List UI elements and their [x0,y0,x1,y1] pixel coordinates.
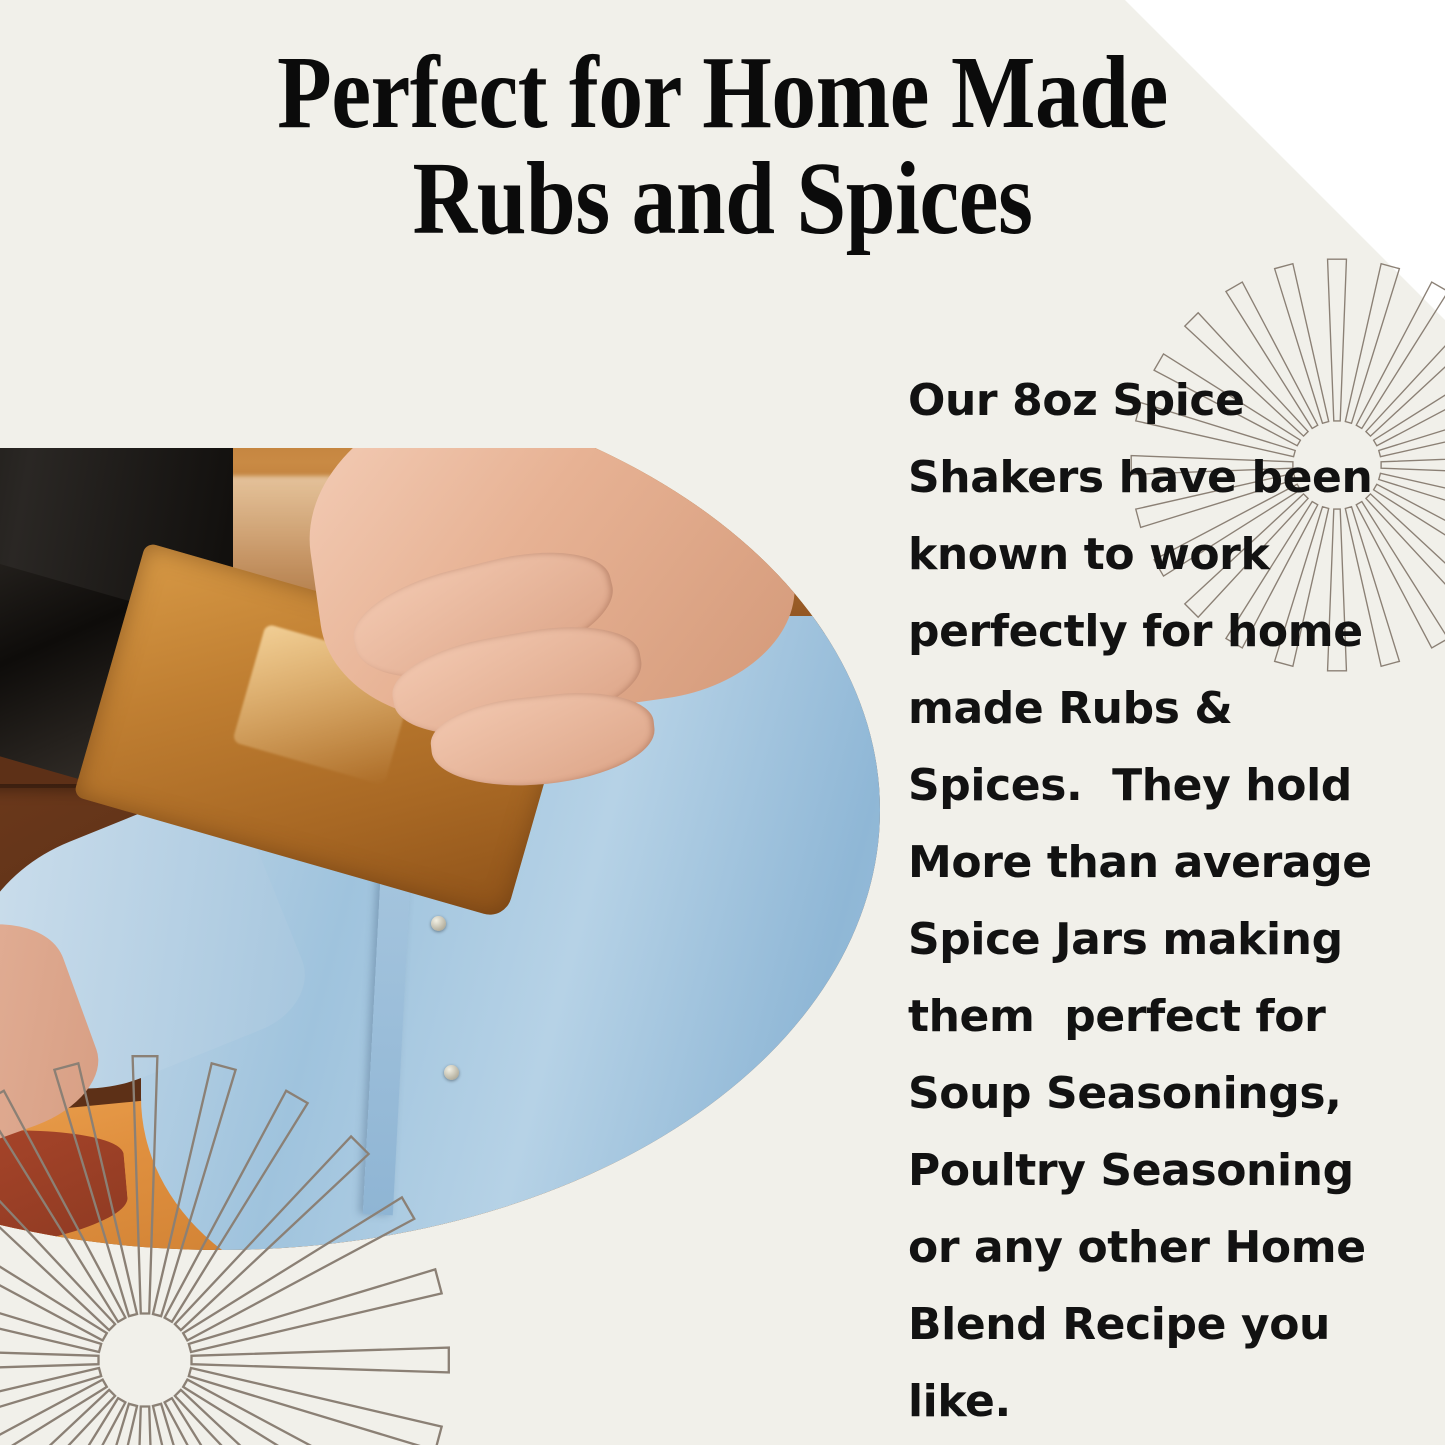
starburst-ray [189,1368,442,1445]
page-title-line-2: Rubs and Spices [101,146,1344,252]
product-photo [0,448,880,1250]
promo-graphic-page: Perfect for Home Made Rubs and Spices [0,0,1445,1445]
starburst-ray [189,1269,442,1352]
starburst-ray [133,1407,158,1445]
starburst-ray [0,1269,101,1352]
starburst-ray [0,1398,125,1445]
product-description: Our 8oz Spice Shakers have been known to… [908,362,1408,1440]
starburst-ray [0,1368,101,1445]
page-title: Perfect for Home Made Rubs and Spices [101,40,1344,252]
kitchen-scene [0,448,880,1250]
starburst-ray [165,1398,308,1445]
starburst-ray [153,1404,236,1445]
starburst-ray [54,1404,137,1445]
starburst-ray [175,1390,369,1445]
starburst-ray [0,1380,107,1445]
kitchen-scene-image [0,448,880,1250]
starburst-ray [0,1348,98,1373]
starburst-ray [192,1348,449,1373]
page-title-line-1: Perfect for Home Made [101,40,1344,146]
starburst-ray [183,1380,414,1445]
starburst-ray [0,1390,115,1445]
shirt-button [431,916,446,931]
product-photo-disc [0,448,880,1250]
